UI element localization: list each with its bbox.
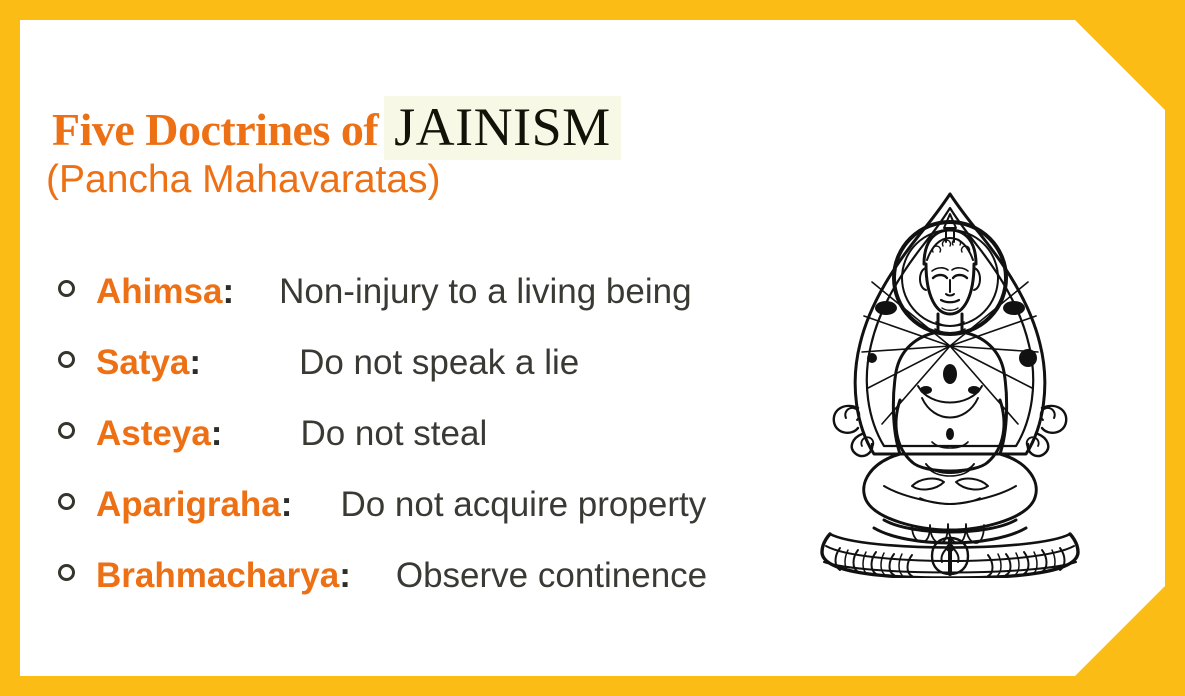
frame-border-top xyxy=(0,0,1185,20)
doctrine-term: Brahmacharya xyxy=(96,556,339,596)
doctrine-definition: Do not steal xyxy=(300,414,487,454)
corner-triangle-top-right xyxy=(1075,20,1165,110)
doctrine-colon: : xyxy=(222,272,234,312)
title-main-text: Five Doctrines of xyxy=(52,103,378,156)
doctrine-term: Ahimsa xyxy=(96,272,222,312)
seated-tirthankara-icon xyxy=(800,186,1100,578)
doctrine-colon: : xyxy=(189,343,201,383)
title-highlight-text: JAINISM xyxy=(384,96,621,160)
doctrine-colon: : xyxy=(211,414,223,454)
doctrine-row: Ahimsa:Non-injury to a living being xyxy=(58,272,818,343)
doctrine-row: Asteya:Do not steal xyxy=(58,414,818,485)
doctrine-definition: Observe continence xyxy=(396,556,707,596)
list-bullet-icon xyxy=(58,493,75,510)
doctrine-colon: : xyxy=(339,556,351,596)
doctrine-definition: Do not speak a lie xyxy=(299,343,579,383)
doctrine-list: Ahimsa:Non-injury to a living beingSatya… xyxy=(58,272,818,627)
doctrine-term: Satya xyxy=(96,343,189,383)
corner-triangle-bottom-right xyxy=(1075,586,1165,676)
doctrine-term: Aparigraha xyxy=(96,485,281,525)
doctrine-definition: Non-injury to a living being xyxy=(279,272,691,312)
doctrine-definition: Do not acquire property xyxy=(340,485,706,525)
doctrine-row: Satya:Do not speak a lie xyxy=(58,343,818,414)
doctrine-row: Aparigraha:Do not acquire property xyxy=(58,485,818,556)
frame-border-left xyxy=(0,0,20,696)
list-bullet-icon xyxy=(58,280,75,297)
list-bullet-icon xyxy=(58,564,75,581)
frame-border-right xyxy=(1165,0,1185,696)
list-bullet-icon xyxy=(58,351,75,368)
page-subtitle: (Pancha Mahavaratas) xyxy=(46,158,441,202)
doctrine-row: Brahmacharya:Observe continence xyxy=(58,556,818,627)
list-bullet-icon xyxy=(58,422,75,439)
doctrine-term: Asteya xyxy=(96,414,211,454)
page-title: Five Doctrines of JAINISM xyxy=(52,96,621,160)
frame-border-bottom xyxy=(0,676,1185,696)
doctrine-colon: : xyxy=(281,485,293,525)
slide-canvas: Five Doctrines of JAINISM (Pancha Mahava… xyxy=(0,0,1185,696)
